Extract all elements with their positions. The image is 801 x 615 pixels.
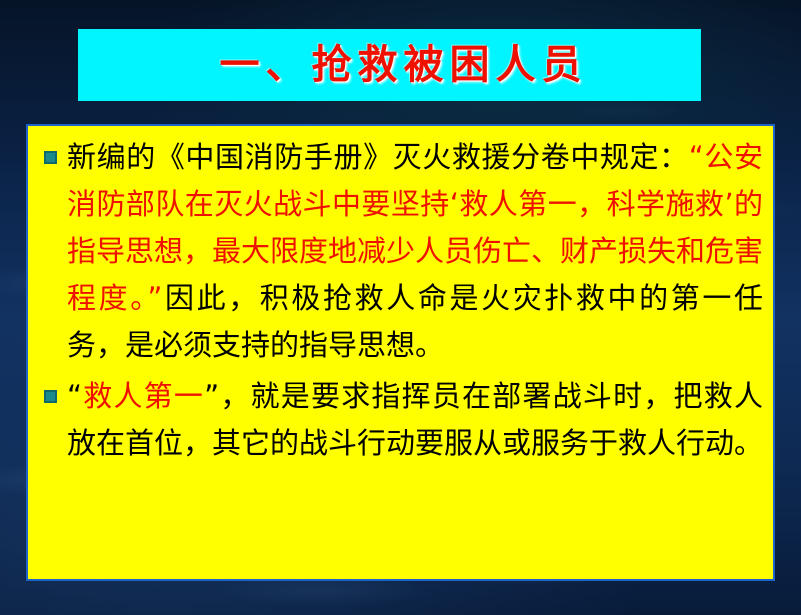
segment-black-3: “ [67, 379, 82, 413]
bullet-paragraph-1-text: 新编的《中国消防手册》灭火救援分卷中规定：“公安消防部队在灭火战斗中要坚持‘救人… [67, 134, 763, 369]
square-bullet-icon [44, 390, 57, 403]
presentation-slide: 一、抢救被困人员 新编的《中国消防手册》灭火救援分卷中规定：“公安消防部队在灭火… [0, 0, 801, 615]
bullet-paragraph-1: 新编的《中国消防手册》灭火救援分卷中规定：“公安消防部队在灭火战斗中要坚持‘救人… [36, 134, 763, 369]
bullet-paragraph-2: “救人第一”，就是要求指挥员在部署战斗时，把救人放在首位，其它的战斗行动要服从或… [36, 373, 763, 467]
square-bullet-icon [44, 151, 57, 164]
title-banner: 一、抢救被困人员 [78, 29, 701, 101]
bullet-paragraph-2-text: “救人第一”，就是要求指挥员在部署战斗时，把救人放在首位，其它的战斗行动要服从或… [67, 373, 763, 467]
segment-black-1: 新编的《中国消防手册》灭火救援分卷中规定： [67, 140, 689, 174]
content-box: 新编的《中国消防手册》灭火救援分卷中规定：“公安消防部队在灭火战斗中要坚持‘救人… [26, 124, 775, 581]
segment-red-2: 救人第一 [82, 379, 204, 413]
page-title: 一、抢救被困人员 [192, 45, 588, 85]
segment-black-2: 因此，积极抢救人命是火灾扑救中的第一任务，是必须支持的指导思想。 [67, 281, 763, 362]
